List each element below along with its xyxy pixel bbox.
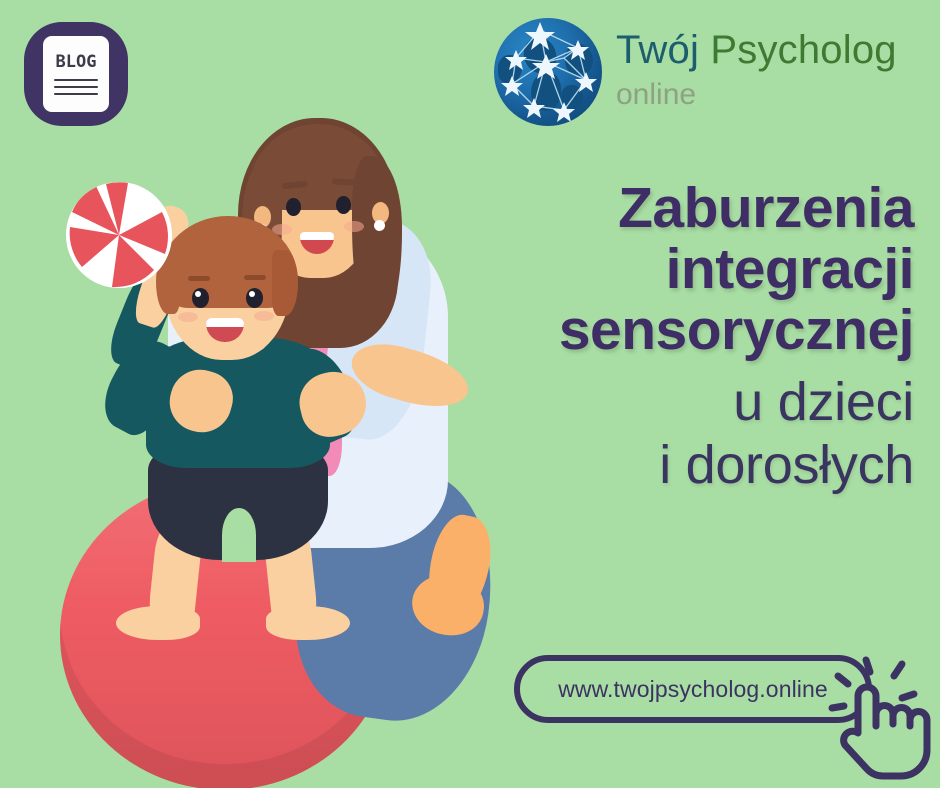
child-teeth: [206, 318, 244, 327]
child-hair-right: [272, 250, 298, 316]
headline-line-4: u dzieci: [474, 371, 914, 434]
globe-network-icon: [494, 18, 602, 126]
brand-word-online: online: [616, 80, 897, 110]
illustration-scene: [0, 120, 540, 788]
blog-text-lines: [54, 79, 98, 95]
blog-badge[interactable]: BLOG: [24, 22, 128, 126]
website-url-text: www.twojpsycholog.online: [558, 676, 828, 703]
child-eye-highlight-right: [249, 291, 255, 297]
therapist-eye-left: [286, 198, 301, 216]
child-blush-right: [254, 311, 274, 321]
child-eye-right: [246, 288, 263, 308]
headline-line-5: i dorosłych: [474, 434, 914, 497]
therapist-blush-right: [344, 221, 364, 232]
beach-ball-icon: [66, 182, 172, 288]
click-hand-cursor-icon: [818, 650, 936, 780]
brand-logo[interactable]: Twój Psycholog online: [494, 18, 897, 126]
brand-text: Twój Psycholog online: [616, 18, 897, 110]
child-foot-left: [116, 606, 200, 640]
child-eyebrow-right: [244, 275, 266, 280]
brand-word-twoj: Twój: [616, 28, 699, 72]
blog-page-icon: BLOG: [43, 36, 109, 112]
therapist-earring-right: [374, 220, 385, 231]
poster-canvas: BLOG: [0, 0, 940, 788]
blog-badge-label: BLOG: [56, 54, 97, 71]
child-shorts-notch: [222, 508, 256, 562]
brand-word-psycholog: Psycholog: [710, 28, 896, 72]
headline-line-1: Zaburzenia: [474, 178, 914, 239]
brand-title-line: Twój Psycholog: [616, 30, 897, 70]
headline-block: Zaburzenia integracji sensorycznej u dzi…: [474, 178, 914, 496]
child-eye-left: [192, 288, 209, 308]
headline-line-3: sensorycznej: [474, 300, 914, 361]
therapist-teeth: [300, 232, 334, 240]
child-eyebrow-left: [188, 276, 210, 281]
child-foot-right: [266, 606, 350, 640]
therapist-eye-right: [336, 196, 351, 214]
child-blush-left: [178, 312, 198, 322]
child-eye-highlight-left: [195, 291, 201, 297]
headline-line-2: integracji: [474, 239, 914, 300]
